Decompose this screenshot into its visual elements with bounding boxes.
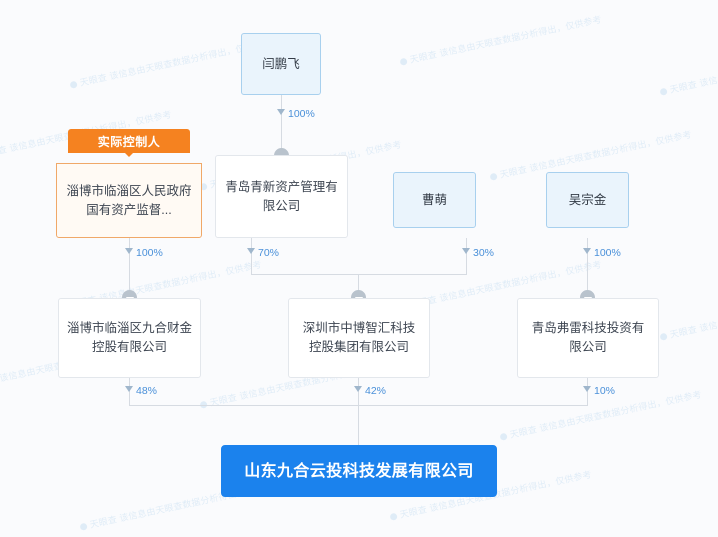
edge-caomeng-down	[466, 238, 467, 274]
arrow-fulei-to-root	[583, 386, 591, 392]
watermark: 天眼查 该信息由天眼查数据分析得出，仅供参考	[659, 287, 718, 343]
node-label: 山东九合云投科技发展有限公司	[244, 462, 474, 481]
arrow-zhongbo-to-root	[354, 386, 362, 392]
arrow-yan-to-qingxin	[277, 109, 285, 115]
node-person-caomeng[interactable]: 曹萌	[393, 172, 476, 228]
node-person-yanpengfei[interactable]: 闫鹏飞	[241, 33, 321, 95]
node-company-jiuhe-caijin[interactable]: 淄博市临淄区九合财金控股有限公司	[58, 298, 201, 378]
percent-wu-to-fulei: 100%	[594, 247, 621, 259]
watermark: 天眼查 该信息由天眼查数据分析得出，仅供参考	[399, 12, 603, 68]
arrow-wu-to-fulei	[583, 248, 591, 254]
percent-gov-to-jiuhe: 100%	[136, 247, 163, 259]
node-root-company[interactable]: 山东九合云投科技发展有限公司	[221, 445, 497, 497]
edge-merge-to-root	[358, 405, 359, 445]
edge-gov-to-jiuhe	[129, 238, 130, 298]
node-label: 青岛青新资产管理有限公司	[224, 178, 339, 216]
watermark: 天眼查 该信息由天眼查数据分析得出，仅供参考	[659, 42, 718, 98]
edge-qingxin-down	[251, 238, 252, 274]
node-company-qingdao-qingxin[interactable]: 青岛青新资产管理有限公司	[215, 155, 348, 238]
watermark: 天眼查 该信息由天眼查数据分析得出，仅供参考	[659, 517, 718, 537]
node-label: 闫鹏飞	[262, 55, 300, 74]
edge-yan-to-qingxin	[281, 95, 282, 155]
org-chart-canvas: 天眼查 该信息由天眼查数据分析得出，仅供参考 天眼查 该信息由天眼查数据分析得出…	[0, 0, 718, 537]
node-company-qingdao-fulei[interactable]: 青岛弗雷科技投资有限公司	[517, 298, 659, 378]
node-label: 青岛弗雷科技投资有限公司	[526, 319, 650, 357]
node-person-wuzongjin[interactable]: 吴宗金	[546, 172, 629, 228]
percent-fulei-to-root: 10%	[594, 385, 615, 397]
edge-wu-to-fulei	[587, 238, 588, 298]
arrow-qingxin-to-zhongbo	[247, 248, 255, 254]
node-label: 淄博市临淄区九合财金控股有限公司	[67, 319, 192, 357]
percent-jiuhe-to-root: 48%	[136, 385, 157, 397]
status-badge-actual-controller: 实际控制人	[68, 129, 190, 153]
node-company-zhongbo-zhihui[interactable]: 深圳市中博智汇科技控股集团有限公司	[288, 298, 430, 378]
badge-label: 实际控制人	[98, 133, 161, 150]
arrow-caomeng-to-zhongbo	[462, 248, 470, 254]
percent-yan-to-qingxin: 100%	[288, 108, 315, 120]
node-label: 深圳市中博智汇科技控股集团有限公司	[297, 319, 421, 357]
percent-qingxin-to-zhongbo: 70%	[258, 247, 279, 259]
edge-merge-bar-zhongbo	[251, 274, 467, 275]
percent-caomeng-to-zhongbo: 30%	[473, 247, 494, 259]
arrow-gov-to-jiuhe	[125, 248, 133, 254]
watermark-brand: 天眼查	[79, 72, 108, 88]
percent-zhongbo-to-root: 42%	[365, 385, 386, 397]
node-label: 曹萌	[422, 191, 447, 210]
node-label: 淄博市临淄区人民政府国有资产监督...	[65, 182, 193, 220]
arrow-jiuhe-to-root	[125, 386, 133, 392]
node-company-zibo-government[interactable]: 淄博市临淄区人民政府国有资产监督...	[56, 163, 202, 238]
node-label: 吴宗金	[569, 191, 607, 210]
